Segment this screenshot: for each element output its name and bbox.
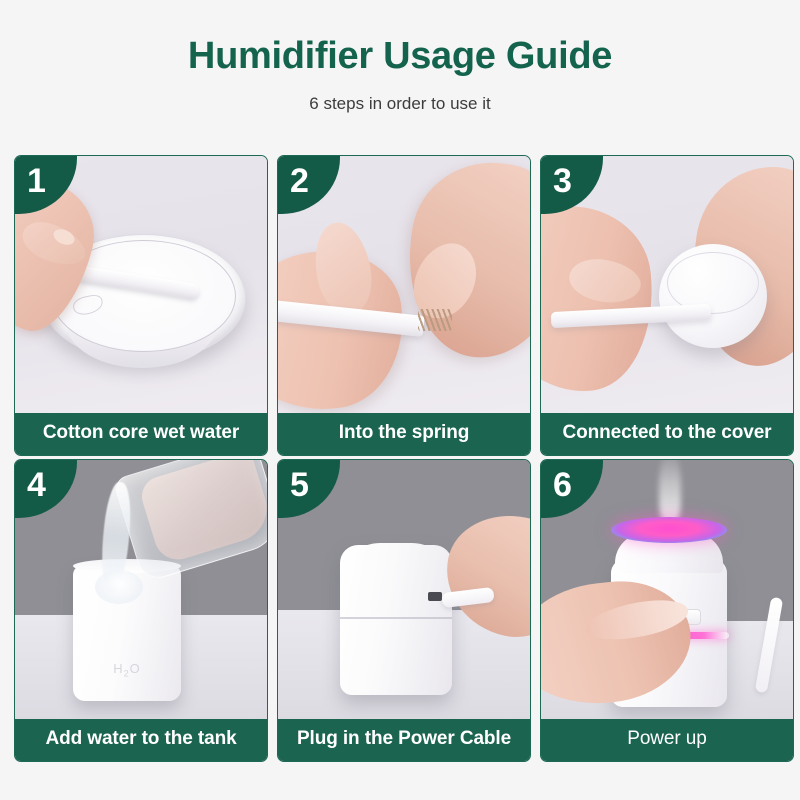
step-photo-3: 3 bbox=[541, 156, 793, 413]
step-card-5[interactable]: 5 Plug in the Power Cable bbox=[277, 459, 531, 762]
page-subtitle: 6 steps in order to use it bbox=[0, 94, 800, 114]
step-caption-2: Into the spring bbox=[278, 413, 530, 455]
tank-label-o: O bbox=[130, 661, 141, 676]
step-number: 4 bbox=[15, 460, 46, 502]
step-card-2[interactable]: 2 Into the spring bbox=[277, 155, 531, 456]
mist-plume bbox=[659, 460, 681, 523]
led-light-ring bbox=[611, 517, 727, 543]
metal-spring bbox=[418, 309, 452, 331]
step-caption-5: Plug in the Power Cable bbox=[278, 719, 530, 761]
step-photo-6: 6 bbox=[541, 460, 793, 719]
step-card-4[interactable]: H2O 4 Add water to the tank bbox=[14, 459, 268, 762]
step-number: 3 bbox=[541, 156, 572, 198]
steps-grid: 1 Cotton core wet water 2 Into the sprin… bbox=[14, 155, 786, 762]
step-caption-6: Power up bbox=[541, 719, 793, 761]
step-photo-1: 1 bbox=[15, 156, 267, 413]
usage-guide-page: Humidifier Usage Guide 6 steps in order … bbox=[0, 0, 800, 800]
water-splash bbox=[95, 570, 143, 604]
step-card-6[interactable]: 6 Power up bbox=[540, 459, 794, 762]
tank-label: H2O bbox=[73, 661, 181, 679]
page-title: Humidifier Usage Guide bbox=[0, 36, 800, 78]
step-caption-4: Add water to the tank bbox=[15, 719, 267, 761]
step-card-1[interactable]: 1 Cotton core wet water bbox=[14, 155, 268, 456]
step-photo-5: 5 bbox=[278, 460, 530, 719]
step-number: 6 bbox=[541, 460, 572, 502]
step-number: 1 bbox=[15, 156, 46, 198]
step-caption-3: Connected to the cover bbox=[541, 413, 793, 455]
step-photo-4: H2O 4 bbox=[15, 460, 267, 719]
humidifier-lid bbox=[340, 543, 452, 615]
lid-seam bbox=[340, 617, 452, 619]
header: Humidifier Usage Guide 6 steps in order … bbox=[0, 0, 800, 114]
step-photo-2: 2 bbox=[278, 156, 530, 413]
step-number: 5 bbox=[278, 460, 309, 502]
power-port bbox=[428, 592, 442, 601]
step-card-3[interactable]: 3 Connected to the cover bbox=[540, 155, 794, 456]
step-number: 2 bbox=[278, 156, 309, 198]
tank-label-h: H bbox=[113, 661, 123, 676]
step-caption-1: Cotton core wet water bbox=[15, 413, 267, 455]
